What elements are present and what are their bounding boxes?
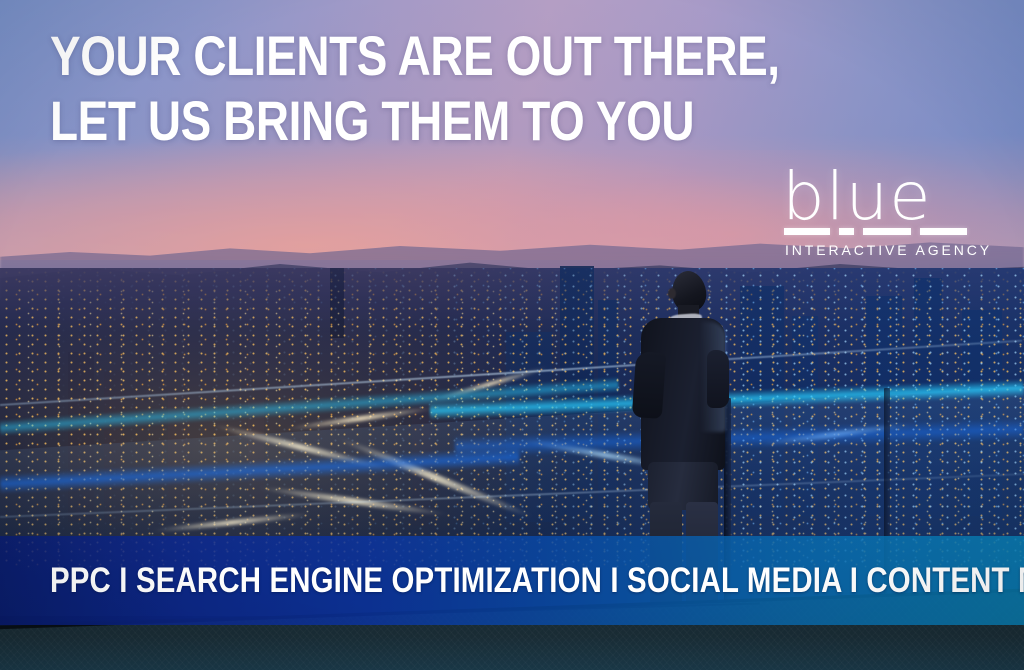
logo-tagline: INTERACTIVE AGENCY bbox=[785, 242, 992, 258]
services-banner: PPC I SEARCH ENGINE OPTIMIZATION I SOCIA… bbox=[0, 536, 1024, 625]
headline-line-1: YOUR CLIENTS ARE OUT THERE, bbox=[50, 24, 624, 89]
logo-dash-3 bbox=[863, 228, 911, 235]
brand-logo[interactable]: blue INTERACTIVE AGENCY bbox=[782, 166, 968, 228]
man-right-arm bbox=[707, 350, 729, 408]
services-list-text: PPC I SEARCH ENGINE OPTIMIZATION I SOCIA… bbox=[50, 561, 1024, 601]
logo-underline-dashes bbox=[784, 228, 968, 235]
man-ear bbox=[668, 288, 676, 299]
logo-dash-1 bbox=[784, 228, 830, 235]
logo-wordmark: blue bbox=[782, 166, 972, 228]
headline-line-2: LET US BRING THEM TO YOU bbox=[50, 89, 624, 154]
logo-dash-4 bbox=[920, 228, 967, 235]
marketing-hero-banner: YOUR CLIENTS ARE OUT THERE, LET US BRING… bbox=[0, 0, 1024, 670]
floor-bottom-glow bbox=[0, 636, 1024, 670]
page-title: YOUR CLIENTS ARE OUT THERE, LET US BRING… bbox=[50, 24, 624, 154]
logo-dash-2 bbox=[839, 228, 854, 235]
man-left-arm bbox=[632, 351, 667, 419]
